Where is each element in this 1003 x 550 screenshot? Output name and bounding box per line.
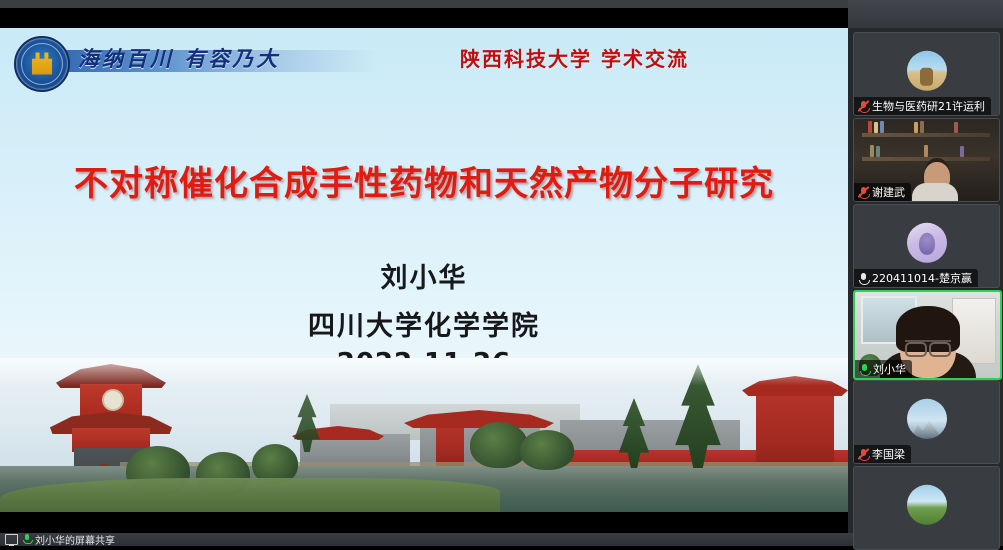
university-motto: 海纳百川 有容乃大: [78, 44, 378, 74]
participant-name: 生物与医药研21许运利: [872, 98, 985, 114]
university-crest-icon: [14, 36, 70, 92]
participant-torso: [912, 183, 958, 202]
photo-top-fade: [0, 358, 848, 512]
screen-share-label: 刘小华的屏幕共享: [35, 532, 115, 547]
book: [870, 145, 874, 157]
participant-nameplate: 李国梁: [854, 445, 911, 463]
campus-photo: [0, 358, 848, 512]
participant-name: 刘小华: [873, 361, 906, 377]
book: [868, 121, 872, 133]
monitor-icon: [5, 534, 18, 545]
mic-on-icon: [22, 534, 31, 545]
slide-header: 海纳百川 有容乃大 陕西科技大学 学术交流: [0, 28, 848, 90]
presenter-affiliation: 四川大学化学学院: [0, 304, 848, 343]
mic-muted-icon: [858, 448, 869, 461]
participant-name: 李国梁: [872, 446, 905, 462]
book: [924, 145, 928, 157]
participant-tile[interactable]: 谢建武: [853, 118, 1000, 202]
organization-title: 陕西科技大学 学术交流: [460, 44, 790, 74]
participant-tile[interactable]: 220411014-楚京赢: [853, 204, 1000, 288]
avatar: [907, 223, 947, 263]
mic-muted-icon: [858, 186, 869, 199]
bookshelf-board: [862, 157, 990, 161]
avatar: [907, 51, 947, 91]
book: [960, 146, 964, 157]
participant-tile[interactable]: 李国梁: [853, 380, 1000, 464]
glasses-icon: [905, 340, 951, 354]
avatar: [907, 485, 947, 525]
participant-nameplate: 刘小华: [855, 360, 912, 378]
participant-nameplate: 220411014-楚京赢: [854, 269, 978, 287]
slide-title: 不对称催化合成手性药物和天然产物分子研究: [0, 156, 848, 205]
participant-nameplate: 谢建武: [854, 183, 911, 201]
mic-speaking-icon: [859, 363, 870, 376]
participant-tile[interactable]: 生物与医药研21许运利: [853, 32, 1000, 116]
book: [874, 122, 878, 133]
letterbox-top: [0, 8, 848, 28]
participant-nameplate: 生物与医药研21许运利: [854, 97, 991, 115]
presentation-slide: 海纳百川 有容乃大 陕西科技大学 学术交流 不对称催化合成手性药物和天然产物分子…: [0, 28, 848, 512]
participant-tile[interactable]: [853, 466, 1000, 550]
book: [920, 121, 924, 133]
meeting-window: 海纳百川 有容乃大 陕西科技大学 学术交流 不对称催化合成手性药物和天然产物分子…: [0, 0, 1003, 546]
screen-share-statusbar: 刘小华的屏幕共享: [0, 533, 853, 546]
participant-sidebar[interactable]: 生物与医药研21许运利 谢: [848, 0, 1003, 546]
book: [880, 121, 884, 133]
participant-tile-active-speaker[interactable]: 刘小华: [853, 290, 1002, 380]
sidebar-header: [848, 0, 1003, 28]
book: [954, 122, 958, 133]
book: [876, 146, 880, 157]
shared-screen-stage[interactable]: 海纳百川 有容乃大 陕西科技大学 学术交流 不对称催化合成手性药物和天然产物分子…: [0, 28, 848, 533]
book: [914, 122, 918, 133]
crest-ring: [21, 43, 63, 85]
participant-name: 谢建武: [872, 184, 905, 200]
mic-on-icon: [858, 272, 869, 285]
avatar: [907, 399, 947, 439]
mic-muted-icon: [858, 100, 869, 113]
presenter-name: 刘小华: [0, 256, 848, 295]
letterbox-bottom: [0, 512, 848, 533]
participant-name: 220411014-楚京赢: [872, 270, 972, 286]
bookshelf-board: [862, 133, 990, 137]
